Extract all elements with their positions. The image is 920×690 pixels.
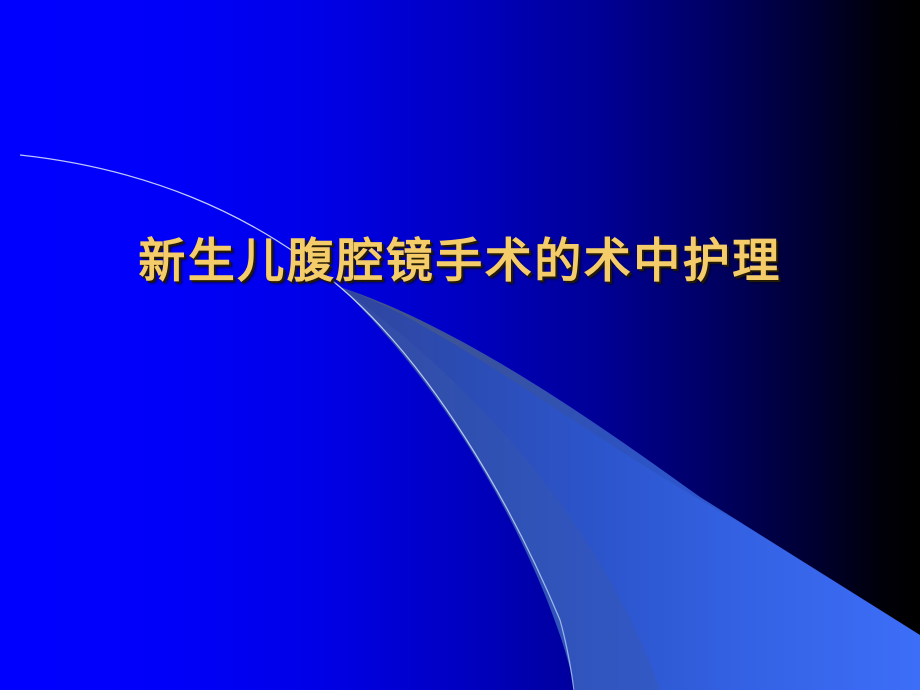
page-title: 新生儿腹腔镜手术的术中护理 xyxy=(138,231,782,293)
slide-title-block: 新生儿腹腔镜手术的术中护理 xyxy=(0,231,920,293)
slide-background-gradient xyxy=(0,0,920,690)
presentation-slide: 新生儿腹腔镜手术的术中护理 xyxy=(0,0,920,690)
